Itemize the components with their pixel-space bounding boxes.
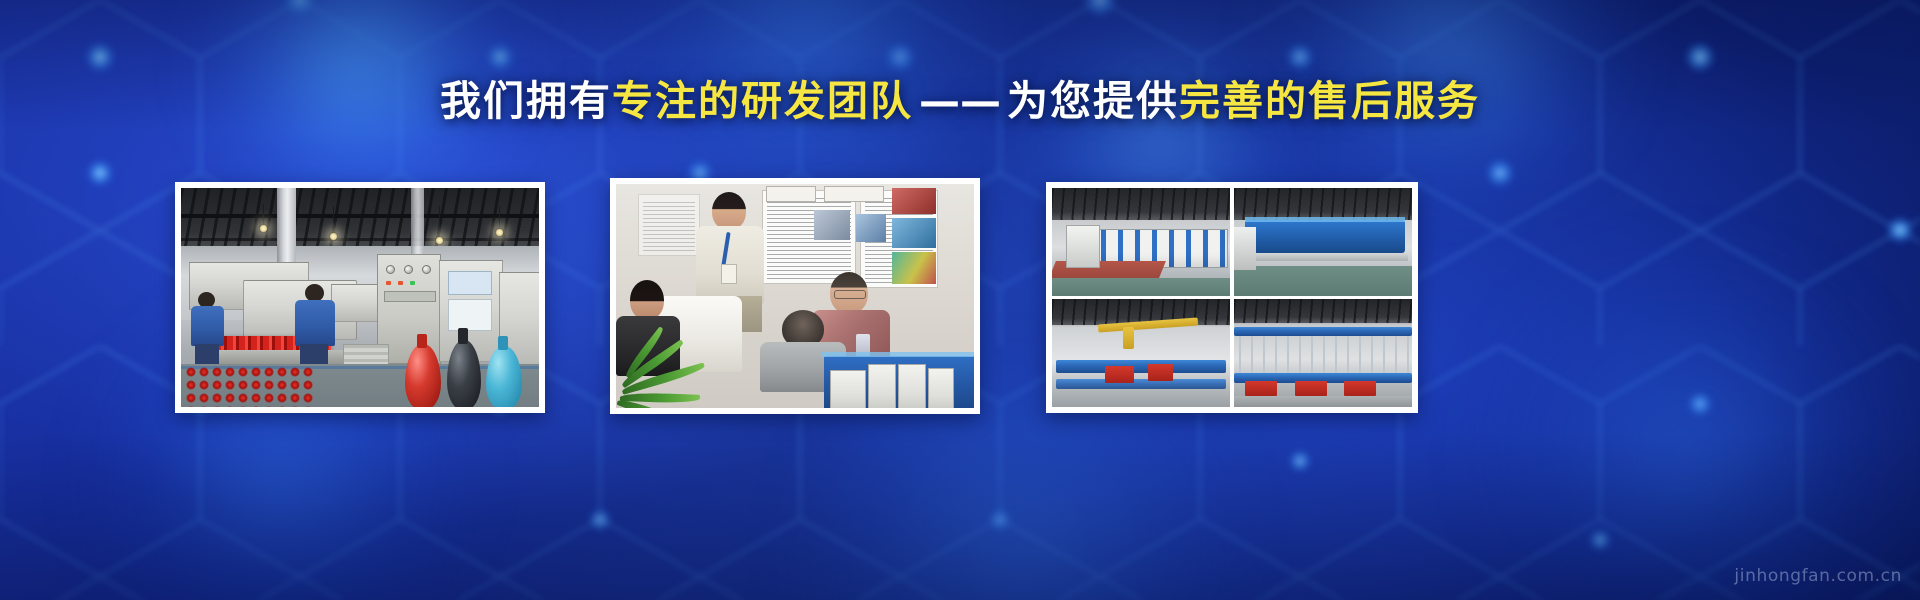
roof-beam [181,214,539,218]
indicator-led [422,281,427,285]
ceiling-lamp [435,236,444,245]
person-head [630,280,664,320]
palm-plant [616,334,726,408]
lamp-stem [439,206,440,238]
workshop-hall [1052,188,1230,296]
overhead-rail [1234,327,1412,336]
tunnel-top-rail [1245,217,1405,222]
photo-gallery [0,182,1920,414]
photo-equipment-collage [1046,182,1418,413]
poster-image [892,252,936,284]
transport-cart [1295,381,1327,396]
worker [189,292,227,364]
crane-column [1123,327,1134,349]
poster-diagram [814,210,850,240]
vase-neck [458,328,468,344]
machine-label [448,271,492,295]
lamp-stem [499,206,500,230]
hanging-fixtures [1234,336,1412,373]
conveyor-line [1056,360,1227,373]
headline-segment-1: 我们拥有 [440,77,612,125]
photo-rnd-team-meeting [610,178,980,414]
factory-scene [181,188,539,407]
red-products-pile [185,366,315,407]
equipment-cabinet [830,370,866,408]
photo-production-line-image [181,188,539,407]
transport-cart [1245,381,1277,396]
hall-roof [1234,299,1412,323]
poster-text-lines [643,199,695,251]
collage-cell-bottom-left [1052,299,1230,407]
panel-display [384,291,436,302]
photo-production-line [175,182,545,413]
person-head [712,192,746,230]
equipment-cabinet [1234,227,1255,270]
roof-beam [181,238,539,241]
ceiling-lamp [259,224,268,233]
workshop-floor [1234,266,1412,296]
indicator-led [386,281,391,285]
workshop-floor [1052,390,1230,407]
lamp-stem [333,206,334,234]
equipment-cabinet [868,364,896,408]
hall-roof [1234,188,1412,220]
photo-rnd-team-meeting-image [616,184,974,408]
worker-body [295,300,335,346]
collage-cell-top-left [1052,188,1230,296]
headline-dash: —— [913,77,1007,125]
conveyor-hall [1052,299,1230,407]
ceiling-lamp [495,228,504,237]
hall-roof [1052,188,1230,220]
worker-legs [195,344,219,364]
watermark: jinhongfan.com.cn [1734,566,1902,586]
hero-banner: 我们拥有专注的研发团队——为您提供完善的售后服务 [0,0,1920,600]
hanging-line-hall [1234,299,1412,407]
collage-cell-bottom-right [1234,299,1412,407]
headline-segment-2: 专注的研发团队 [612,77,913,125]
collage-grid [1052,188,1412,407]
conveyor-line [1056,379,1227,389]
headline-segment-3: 为您提供 [1007,77,1179,125]
headline-segment-4: 完善的售后服务 [1179,77,1480,125]
vase-neck [498,336,508,350]
coating-tunnel-hall [1234,188,1412,296]
workshop-floor [1234,396,1412,407]
worker-body [191,306,224,346]
meeting-scene [616,184,974,408]
coating-tunnel [1245,220,1405,252]
page-title: 我们拥有专注的研发团队——为您提供完善的售后服务 [440,78,1480,125]
collage-cell-top-right [1234,188,1412,296]
control-knob[interactable] [422,265,431,274]
wall-poster [638,194,700,256]
person-head [678,260,716,300]
equipment-top-rail [822,352,974,357]
transport-cart [1148,364,1173,381]
photo-equipment-collage-image [1052,188,1412,407]
poster-image [892,188,936,214]
equipment-cabinet [1066,225,1100,268]
poster-header-chip [824,186,884,202]
vase-neck [417,334,427,348]
indicator-led [410,281,415,285]
eyeglasses [834,290,866,299]
headline-container: 我们拥有专注的研发团队——为您提供完善的售后服务 [0,78,1920,125]
poster-image [892,218,936,248]
poster-header-chip [766,186,816,202]
floor-lane-green [1052,278,1230,295]
poster-diagram [856,214,886,242]
transport-cart [1105,366,1133,383]
indicator-led [398,281,403,285]
machine-label [448,299,492,331]
worker [293,284,337,368]
ceiling-lamp [329,232,338,241]
control-knob[interactable] [404,265,413,274]
control-knob[interactable] [386,265,395,274]
lamp-stem [263,204,264,226]
equipment-cabinet [928,368,954,408]
transport-cart [1344,381,1376,396]
tunnel-base [1241,253,1408,262]
equipment-cabinet [898,364,926,408]
